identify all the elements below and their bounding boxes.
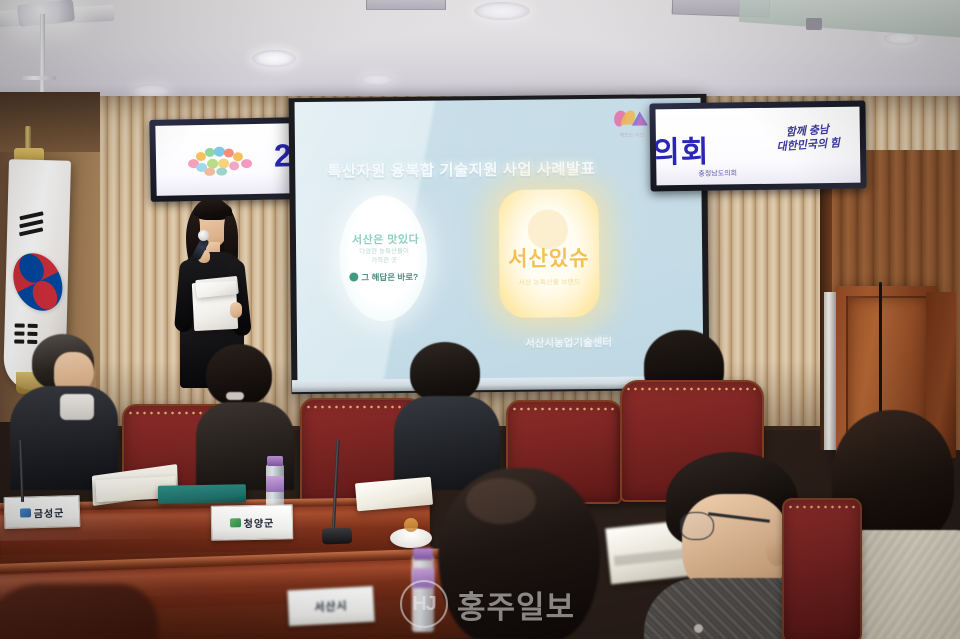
eyeglasses-icon bbox=[680, 512, 714, 540]
taeguk-symbol bbox=[4, 245, 72, 319]
nameplate-text: 금성군 bbox=[33, 504, 64, 520]
chair-stud-trim bbox=[511, 405, 617, 413]
downlight-icon bbox=[474, 2, 530, 20]
downlight-icon bbox=[252, 50, 296, 67]
flag-trigram-gon bbox=[15, 323, 25, 327]
watermark-text: 홍주일보 bbox=[457, 582, 575, 627]
right-wall-monitor: 의회 함께 충남 대한민국의 힘 충청남도의회 bbox=[649, 100, 866, 191]
nameplate: 금성군 bbox=[4, 495, 81, 529]
audience-person-back-left bbox=[10, 330, 120, 490]
right-monitor-screen: 의회 함께 충남 대한민국의 힘 충청남도의회 bbox=[655, 107, 860, 186]
slide-brand-subtitle: 서산 농특산물 브랜드 bbox=[518, 277, 580, 288]
downlight-icon bbox=[360, 74, 394, 86]
right-monitor-big-text: 의회 bbox=[655, 127, 709, 172]
ceiling-projector-mount bbox=[806, 18, 822, 30]
slide-circle-line1: 서산은 맛있다 bbox=[352, 231, 419, 248]
microphone-head-icon bbox=[198, 230, 209, 241]
slide-logo-tagline: 해뜨는 서산 bbox=[610, 131, 654, 138]
flag-trigram-geon bbox=[19, 227, 43, 236]
slide-footer-org: 서산시농업기술센터 bbox=[525, 335, 612, 351]
audience-shirt-collar bbox=[60, 394, 94, 420]
seosan-city-logo: 해뜨는 서산 bbox=[610, 106, 654, 136]
foreground-shoulder bbox=[0, 584, 158, 639]
flag-trigram-gon bbox=[28, 324, 38, 328]
right-monitor-calligraphy: 함께 충남 대한민국의 힘 bbox=[759, 122, 857, 156]
chair-stud-trim bbox=[787, 503, 857, 511]
slide-brand-title: 서산있슈 bbox=[508, 242, 590, 273]
chair-back bbox=[782, 498, 862, 639]
wall-left-upper-shadow bbox=[0, 92, 100, 152]
chair-stud-trim bbox=[625, 385, 759, 393]
mic-stand-crossbar bbox=[22, 76, 56, 80]
foreground-person-bottom-left bbox=[0, 574, 160, 639]
right-monitor-small-text: 충청남도의회 bbox=[698, 168, 737, 179]
slide-circle-answer-row: 그 해답은 바로? bbox=[349, 267, 418, 286]
slide-circle-line2: 다양한 농특산물이 가득한 곳 bbox=[353, 248, 415, 266]
slide-title: 특산자원 융복합 기술지원 사업 사례발표 bbox=[327, 157, 595, 182]
presenter-hand bbox=[230, 302, 242, 318]
cup-contents bbox=[404, 518, 418, 532]
nameplate-text: 청양군 bbox=[244, 515, 275, 531]
county-emblem-icon bbox=[230, 518, 241, 527]
location-pin-icon bbox=[349, 272, 358, 281]
audience-hair-tie bbox=[226, 392, 244, 400]
watermark: HJ 홍주일보 bbox=[400, 580, 575, 628]
bottle-cap bbox=[413, 548, 433, 560]
colorful-cluster-logo bbox=[186, 146, 257, 177]
gooseneck-microphone-base bbox=[322, 527, 353, 544]
bottle-label bbox=[266, 476, 284, 492]
nameplate: 서산시 bbox=[287, 586, 375, 626]
audience-hair bbox=[410, 342, 480, 402]
foreground-hair-highlight bbox=[466, 478, 536, 524]
nameplate: 청양군 bbox=[211, 504, 294, 540]
jacket-button-icon bbox=[694, 624, 703, 633]
county-emblem-icon bbox=[20, 508, 31, 517]
ceiling-vent bbox=[366, 0, 446, 10]
bottle-cap bbox=[267, 456, 283, 466]
conference-room-photo: 20 해뜨는 서산 특산자원 융복합 기술지원 사업 사례발표 서산은 맛있다 … bbox=[0, 0, 960, 639]
slide-circle-line3: 그 해답은 바로? bbox=[361, 272, 418, 283]
watermark-logo-mark: HJ bbox=[400, 580, 448, 628]
teal-notebook bbox=[158, 484, 246, 504]
nameplate-text: 서산시 bbox=[314, 597, 348, 615]
